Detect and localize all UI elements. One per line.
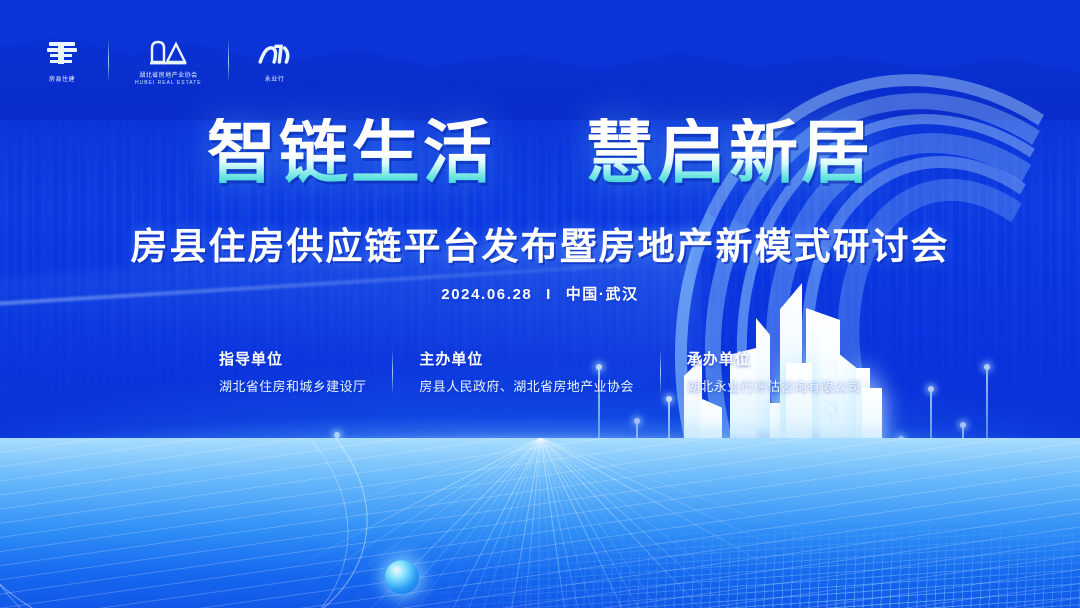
unit-organizer: 承办单位 湖北永业行评估咨询有限公司: [661, 348, 887, 395]
date-location-line: 2024.06.28 I 中国·武汉: [0, 283, 1080, 304]
main-title: 智链生活 慧启新居: [0, 118, 1080, 187]
logo-divider-2: [228, 41, 229, 81]
logo-divider-1: [108, 41, 109, 81]
unit-organizer-name: 湖北永业行评估咨询有限公司: [687, 376, 861, 395]
logo-fangxian-label: 房县住建: [49, 74, 75, 83]
event-banner: 房县住建 湖北省房地产业协会 HUBEI REAL ESTATE: [0, 0, 1080, 608]
unit-guidance-title: 指导单位: [219, 348, 283, 369]
logo-bar: 房县住建 湖北省房地产业协会 HUBEI REAL ESTATE: [42, 33, 295, 88]
subtitle: 房县住房供应链平台发布暨房地产新模式研讨会: [0, 216, 1080, 270]
yongyehang-icon: [255, 39, 295, 72]
unit-host-title: 主办单位: [419, 348, 483, 369]
event-location: 中国·武汉: [566, 286, 639, 303]
fangxian-housing-icon: [42, 39, 82, 72]
logo-hubei-sublabel: HUBEI REAL ESTATE: [135, 80, 202, 86]
event-date: 2024.06.28: [441, 286, 532, 303]
date-separator: I: [546, 286, 552, 303]
hubei-association-icon: [148, 35, 188, 68]
main-title-part2: 慧启新居: [585, 114, 873, 191]
main-title-part1: 智链生活: [207, 114, 495, 191]
logo-hubei-label: 湖北省房地产业协会: [139, 70, 198, 79]
unit-host-name: 房县人民政府、湖北省房地产业协会: [419, 376, 633, 395]
banner-content: 房县住建 湖北省房地产业协会 HUBEI REAL ESTATE: [0, 0, 1080, 608]
unit-guidance: 指导单位 湖北省住房和城乡建设厅: [193, 348, 392, 395]
unit-organizer-title: 承办单位: [687, 348, 751, 369]
logo-fangxian-housing: 房县住建: [42, 39, 82, 83]
logo-hubei-association: 湖北省房地产业协会 HUBEI REAL ESTATE: [135, 35, 202, 86]
unit-guidance-name: 湖北省住房和城乡建设厅: [219, 376, 366, 395]
logo-yongyehang: 永业行: [255, 39, 295, 83]
logo-yongyehang-label: 永业行: [265, 74, 285, 83]
organizer-units: 指导单位 湖北省住房和城乡建设厅 主办单位 房县人民政府、湖北省房地产业协会 承…: [0, 348, 1080, 395]
unit-host: 主办单位 房县人民政府、湖北省房地产业协会: [393, 348, 659, 395]
